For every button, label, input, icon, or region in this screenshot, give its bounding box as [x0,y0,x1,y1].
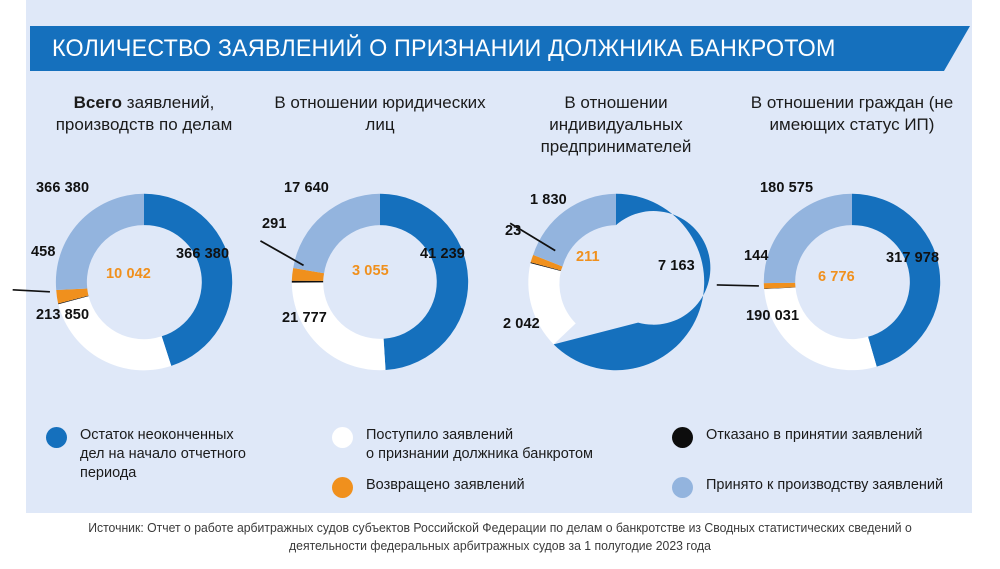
chart-title-1: Всего заявлений, производств по делам [26,92,262,136]
page-title: КОЛИЧЕСТВО ЗАЯВЛЕНИЙ О ПРИЗНАНИИ ДОЛЖНИК… [52,26,836,71]
legend: Остаток неоконченных дел на начало отчет… [26,414,972,506]
value-black-1: 458 [31,244,56,260]
header: КОЛИЧЕСТВО ЗАЯВЛЕНИЙ О ПРИЗНАНИИ ДОЛЖНИК… [30,26,970,71]
legend-item-received-applications[interactable]: Поступило заявлений о признании должника… [332,426,632,464]
legend-swatch-white-icon [332,427,353,448]
value-light-blue-1: 366 380 [36,180,89,196]
slice-white [528,263,575,344]
value-black-4: 144 [744,248,769,264]
donut-chart-citizens: В отношении граждан (не имеющих статус И… [734,88,970,408]
value-light-blue-2: 17 640 [284,180,329,196]
slice-white [292,282,386,370]
slice-light-blue [293,194,380,273]
chart-title-3: В отношении индивидуальных предпринимате… [498,92,734,158]
legend-label-refused-applications: Отказано в принятии заявлений [706,426,922,445]
value-black-3: 23 [505,223,521,239]
slice-black [292,281,323,283]
donut-2-svg [282,184,478,380]
value-dark-blue-1: 366 380 [176,246,229,262]
source-note: Источник: Отчет о работе арбитражных суд… [86,519,913,555]
value-dark-blue-2: 41 239 [420,246,465,262]
value-dark-blue-3: 7 163 [658,258,695,274]
value-orange-4: 6 776 [818,269,855,285]
legend-swatch-light-blue-icon [672,477,693,498]
legend-item-accepted-applications[interactable]: Принято к производству заявлений [672,476,972,498]
legend-item-returned-applications[interactable]: Возвращено заявлений [332,476,632,498]
legend-item-refused-applications[interactable]: Отказано в принятии заявлений [672,426,972,448]
legend-label-received-applications: Поступило заявлений о признании должника… [366,426,593,464]
slice-dark-blue [380,194,468,370]
value-dark-blue-4: 317 978 [886,250,939,266]
donut-1 [46,184,242,380]
legend-label-returned-applications: Возвращено заявлений [366,476,525,495]
value-orange-2: 3 055 [352,263,389,279]
value-light-blue-4: 180 575 [760,180,813,196]
value-orange-3: 211 [576,249,600,265]
donut-2 [282,184,478,380]
legend-label-remaining-cases: Остаток неоконченных дел на начало отчет… [80,426,246,483]
value-white-4: 190 031 [746,308,799,324]
value-white-3: 2 042 [503,316,540,332]
donut-chart-total: Всего заявлений, производств по делам [26,88,262,408]
leader-line-144 [717,285,759,286]
slice-white [764,287,877,370]
value-light-blue-3: 1 830 [530,192,567,208]
value-white-2: 21 777 [282,310,327,326]
legend-swatch-blue-icon [46,427,67,448]
donut-1-svg [46,184,242,380]
legend-swatch-orange-icon [332,477,353,498]
value-orange-1: 10 042 [106,266,151,282]
legend-item-remaining-cases[interactable]: Остаток неоконченных дел на начало отчет… [46,426,306,483]
donut-3 [518,184,714,380]
donut-3-svg [518,184,714,380]
infographic-root: КОЛИЧЕСТВО ЗАЯВЛЕНИЙ О ПРИЗНАНИИ ДОЛЖНИК… [0,0,1000,569]
chart-title-2: В отношении юридических лиц [262,92,498,136]
donut-chart-entrepreneurs: В отношении индивидуальных предпринимате… [498,88,734,408]
value-black-2: 291 [262,216,287,232]
value-white-1: 213 850 [36,307,89,323]
leader-line-458 [13,290,50,292]
chart-title-1-bold: Всего [74,93,122,112]
chart-title-4: В отношении граждан (не имеющих статус И… [734,92,970,136]
charts-row: Всего заявлений, производств по делам [26,88,972,408]
legend-label-accepted-applications: Принято к производству заявлений [706,476,943,495]
legend-swatch-black-icon [672,427,693,448]
donut-chart-legal-entities: В отношении юридических лиц 17 [262,88,498,408]
